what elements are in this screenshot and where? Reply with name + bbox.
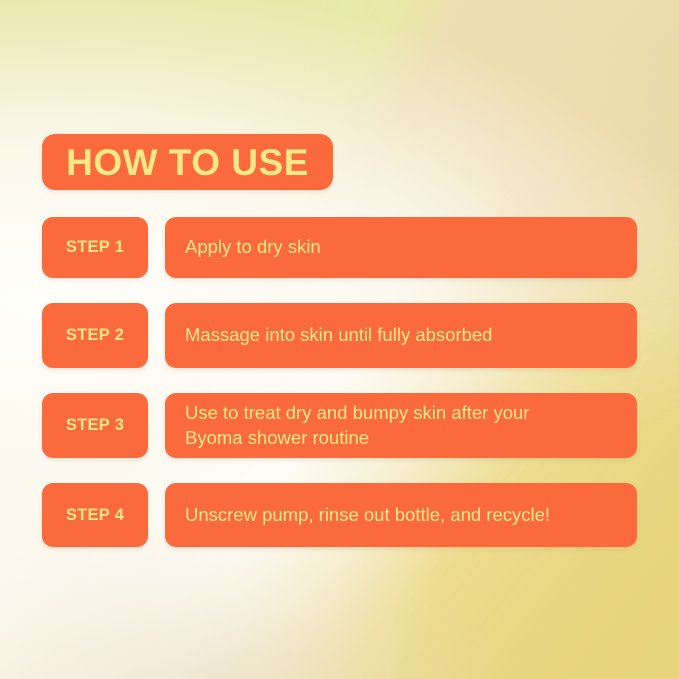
step-badge-label-2: STEP 2 xyxy=(66,327,124,344)
step-body-3: Use to treat dry and bumpy skin after yo… xyxy=(165,393,637,458)
content-overlay: HOW TO USE STEP 1 Apply to dry skin STEP… xyxy=(0,0,679,679)
list-item: STEP 3 Use to treat dry and bumpy skin a… xyxy=(42,393,637,458)
steps-list: STEP 1 Apply to dry skin STEP 2 Massage … xyxy=(42,217,637,547)
step-badge-4: STEP 4 xyxy=(42,483,148,547)
list-item: STEP 4 Unscrew pump, rinse out bottle, a… xyxy=(42,483,637,547)
how-to-use-infographic: HOW TO USE STEP 1 Apply to dry skin STEP… xyxy=(0,0,679,679)
step-description-2: Massage into skin until fully absorbed xyxy=(185,323,508,348)
step-description-4: Unscrew pump, rinse out bottle, and recy… xyxy=(185,503,566,528)
step-body-2: Massage into skin until fully absorbed xyxy=(165,303,637,368)
step-description-1: Apply to dry skin xyxy=(185,235,337,260)
page-title: HOW TO USE xyxy=(66,144,309,181)
list-item: STEP 1 Apply to dry skin xyxy=(42,217,637,278)
step-badge-label-4: STEP 4 xyxy=(66,507,124,524)
step-description-3: Use to treat dry and bumpy skin after yo… xyxy=(185,401,545,450)
list-item: STEP 2 Massage into skin until fully abs… xyxy=(42,303,637,368)
step-body-1: Apply to dry skin xyxy=(165,217,637,278)
page-title-pill: HOW TO USE xyxy=(42,134,333,190)
step-badge-label-3: STEP 3 xyxy=(66,417,124,434)
step-badge-1: STEP 1 xyxy=(42,217,148,278)
step-badge-label-1: STEP 1 xyxy=(66,239,124,256)
step-badge-3: STEP 3 xyxy=(42,393,148,458)
step-badge-2: STEP 2 xyxy=(42,303,148,368)
step-body-4: Unscrew pump, rinse out bottle, and recy… xyxy=(165,483,637,547)
